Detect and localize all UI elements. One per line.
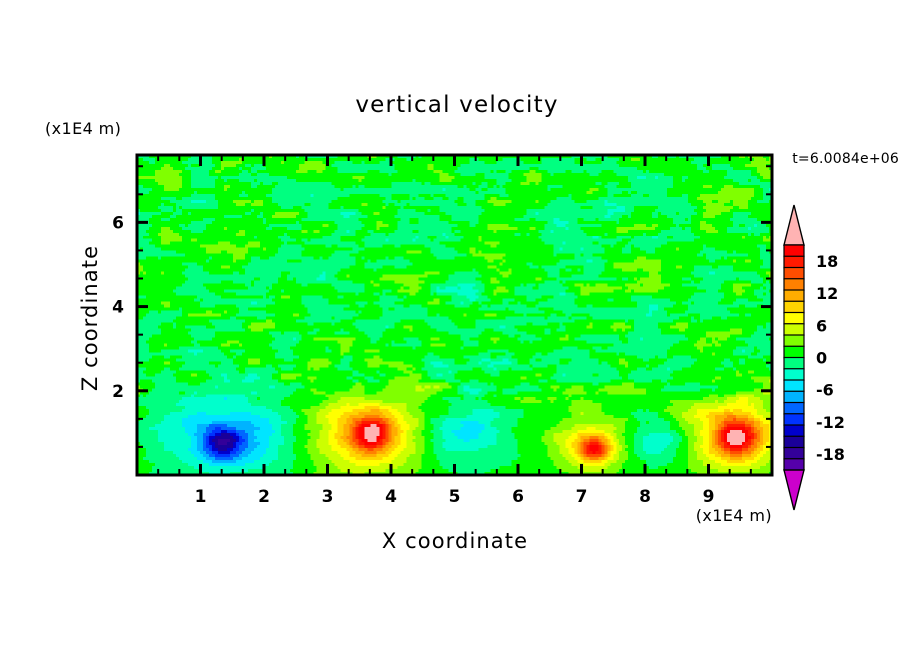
x-tick-label: 7 [576,487,588,507]
colorbar-band [784,391,804,403]
plot-area [137,155,772,475]
colorbar-band [784,245,804,257]
x-tick-label: 3 [322,487,334,507]
colorbar-tick-label: -12 [816,413,845,432]
colorbar-band [784,369,804,381]
colorbar-tick-label: 0 [816,349,827,368]
y-axis-unit-label: (x1E4 m) [45,119,121,138]
colorbar-band [784,335,804,347]
colorbar-band [784,448,804,460]
x-tick-label: 9 [703,487,715,507]
figure-title: vertical velocity [355,92,558,118]
colorbar-band [784,358,804,370]
x-tick-label: 4 [385,487,397,507]
x-axis-unit-label: (x1E4 m) [696,506,772,525]
colorbar-band [784,380,804,392]
colorbar-band [784,414,804,426]
x-tick-label: 2 [258,487,270,507]
y-tick-label: 4 [112,298,124,318]
colorbar-band [784,279,804,291]
contour-field [137,155,772,475]
colorbar-tick-label: 6 [816,316,827,335]
x-tick-label: 8 [639,487,651,507]
colorbar-band [784,459,804,471]
y-axis-title: Z coordinate [78,245,102,391]
colorbar-tick-label: 18 [816,252,838,271]
colorbar-band [784,436,804,448]
colorbar-band [784,313,804,325]
colorbar-band [784,268,804,280]
x-tick-label: 6 [512,487,524,507]
colorbar-band [784,346,804,358]
colorbar-band [784,324,804,336]
time-annotation: t=6.0084e+06 [792,151,899,167]
colorbar-tick-label: -18 [816,445,845,464]
y-tick-label: 2 [112,382,124,402]
x-tick-label: 1 [195,487,207,507]
colorbar-band [784,403,804,415]
colorbar-band [784,290,804,302]
x-tick-label: 5 [449,487,461,507]
y-tick-label: 6 [112,213,124,233]
vertical-velocity-contour-figure: vertical velocity (x1E4 m) t=6.0084e+06 … [0,0,904,654]
colorbar-tick-label: 12 [816,284,838,303]
colorbar[interactable] [784,205,804,510]
colorbar-band [784,301,804,313]
colorbar-band [784,425,804,437]
colorbar-band [784,256,804,268]
x-axis-title: X coordinate [382,529,528,553]
colorbar-tick-label: -6 [816,381,834,400]
